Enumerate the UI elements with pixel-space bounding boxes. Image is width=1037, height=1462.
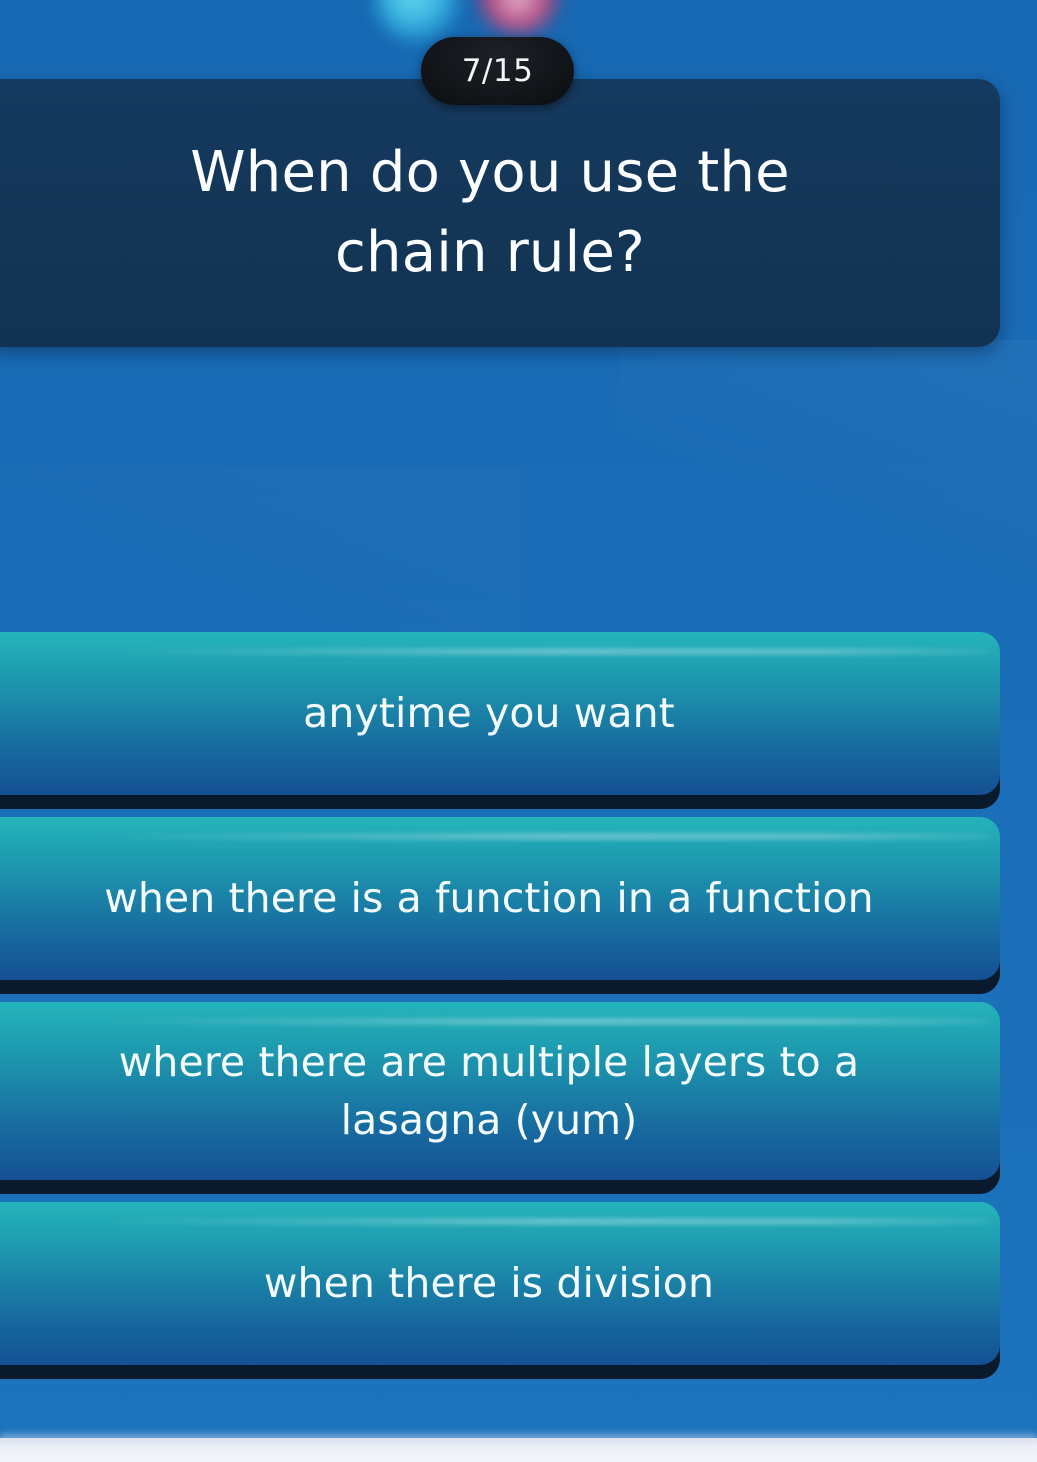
answer-option-3-face[interactable]: where there are multiple layers to a las… xyxy=(0,1002,1000,1180)
bottom-sheet xyxy=(0,1438,1037,1462)
answer-option-4[interactable]: when there is division xyxy=(0,1202,1037,1365)
answer-option-2[interactable]: when there is a function in a function xyxy=(0,817,1037,980)
progress-badge: 7/15 xyxy=(421,37,574,105)
answer-option-2-face[interactable]: when there is a function in a function xyxy=(0,817,1000,980)
pink-orb-icon xyxy=(478,0,558,34)
answer-option-3-label: where there are multiple layers to a las… xyxy=(0,1033,1000,1149)
answer-option-2-label: when there is a function in a function xyxy=(50,869,928,927)
answer-option-1[interactable]: anytime you want xyxy=(0,632,1037,795)
question-card: When do you use the chain rule? xyxy=(0,79,1000,347)
answer-option-4-label: when there is division xyxy=(210,1254,768,1312)
answer-option-3[interactable]: where there are multiple layers to a las… xyxy=(0,1002,1037,1180)
background-sheen-right xyxy=(620,340,1037,640)
quiz-screen: 7/15 When do you use the chain rule? any… xyxy=(0,0,1037,1462)
answer-options-list: anytime you want when there is a functio… xyxy=(0,632,1037,1387)
cyan-orb-icon xyxy=(376,0,460,42)
answer-option-4-face[interactable]: when there is division xyxy=(0,1202,1000,1365)
question-text: When do you use the chain rule? xyxy=(36,133,944,292)
progress-label: 7/15 xyxy=(462,56,534,87)
answer-option-1-label: anytime you want xyxy=(249,684,729,742)
answer-option-1-face[interactable]: anytime you want xyxy=(0,632,1000,795)
